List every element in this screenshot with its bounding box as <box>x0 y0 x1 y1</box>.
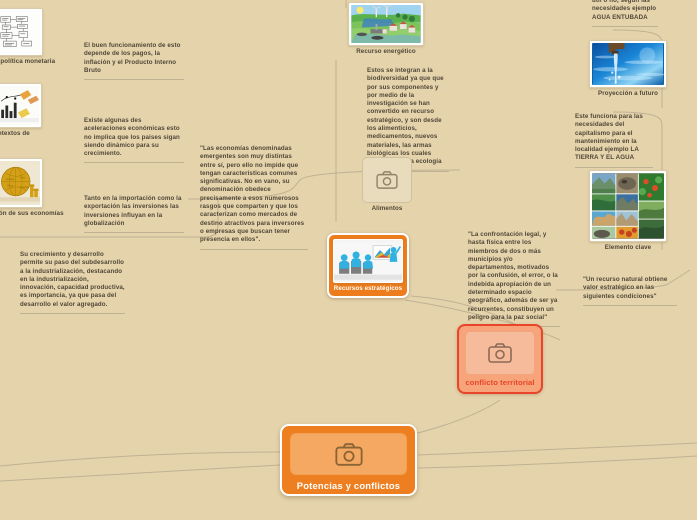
text-content: Tanto en la importación como la exportac… <box>84 195 184 228</box>
node-caption: Potencias y conflictos <box>290 480 407 491</box>
running-water-icon <box>592 43 664 85</box>
node-elemento-clave[interactable]: Elemento clave <box>589 170 667 251</box>
node-caption: a política monetaria <box>0 58 43 65</box>
text-content: "La confrontación legal, y hasta física … <box>468 231 560 322</box>
node-underline <box>84 79 184 80</box>
text-node-recurso-natural[interactable]: "Un recurso natural obtiene valor estrat… <box>583 276 677 309</box>
energy-landscape-icon <box>351 5 421 43</box>
svg-text:África: África <box>7 185 14 188</box>
text-node-capitalismo[interactable]: Este funciona para las necesidades del c… <box>575 113 653 171</box>
svg-text:Europa: Europa <box>6 178 14 181</box>
node-caption: Elemento clave <box>589 244 667 251</box>
camera-placeholder-icon <box>362 157 412 203</box>
text-content: Este funciona para las necesidades del c… <box>575 113 653 163</box>
business-sketch-icon <box>0 86 39 125</box>
camera-icon <box>376 171 398 189</box>
golden-globe-icon: EuropaAsia ÁfricaAmérica <box>0 161 40 205</box>
node-economias[interactable]: EuropaAsia ÁfricaAmérica ión de sus econ… <box>0 158 43 217</box>
collage-image <box>589 170 667 242</box>
text-content: "Un recurso natural obtiene valor estrat… <box>583 276 677 301</box>
node-caption: Proyección a futuro <box>589 90 667 97</box>
node-caption: Recursos estratégicos <box>333 285 403 292</box>
text-content: Su crecimiento y desarrollo permite su p… <box>20 251 125 309</box>
meeting-image <box>333 239 403 283</box>
node-underline <box>583 305 677 306</box>
text-node-crecimiento-desarrollo[interactable]: Su crecimiento y desarrollo permite su p… <box>20 251 125 317</box>
node-underline <box>200 249 308 250</box>
globe-image: EuropaAsia ÁfricaAmérica <box>0 158 43 208</box>
node-underline <box>84 162 184 163</box>
svg-text:América: América <box>20 186 29 189</box>
text-node-agua-entubada[interactable]: util o no, según las necesidades ejemplo… <box>592 0 658 30</box>
text-content: "Las economías denominadas emergentes so… <box>200 145 308 245</box>
node-underline <box>84 232 184 233</box>
text-node-funcionamiento[interactable]: El buen funcionamiento de esto depende d… <box>84 42 184 83</box>
node-underline <box>592 26 658 27</box>
text-content: Estos se integran a la biodiversidad ya … <box>367 67 449 167</box>
camera-placeholder-icon <box>290 433 407 475</box>
camera-icon <box>335 443 363 466</box>
text-content: util o no, según las necesidades ejemplo… <box>592 0 658 22</box>
node-recurso-energetico[interactable]: Recurso energético <box>348 2 424 55</box>
node-caption: conflicto territorial <box>465 378 535 387</box>
node-contextos-de[interactable]: ontextos de <box>0 83 42 137</box>
text-node-aceleraciones[interactable]: Existe algunas des aceleraciones económi… <box>84 117 184 166</box>
node-caption: ontextos de <box>0 130 42 137</box>
text-content: Existe algunas des aceleraciones económi… <box>84 117 184 158</box>
diagram-image <box>0 8 43 56</box>
water-image <box>589 40 667 88</box>
node-alimentos[interactable]: Alimentos <box>362 157 412 212</box>
text-node-economias-emergentes[interactable]: "Las economías denominadas emergentes so… <box>200 145 308 253</box>
flowchart-diagram-icon <box>0 11 40 53</box>
node-caption: Recurso energético <box>348 48 424 55</box>
node-caption: ión de sus economías <box>0 210 43 217</box>
text-node-importacion[interactable]: Tanto en la importación como la exportac… <box>84 195 184 236</box>
landscape-image <box>348 2 424 46</box>
node-recursos-estrategicos[interactable]: Recursos estratégicos <box>327 233 409 298</box>
node-potencias-y-conflictos[interactable]: Potencias y conflictos <box>280 424 417 496</box>
camera-placeholder-icon <box>465 331 535 375</box>
mindmap-canvas[interactable]: a política monetaria <box>0 0 697 520</box>
node-caption: Alimentos <box>362 205 412 212</box>
node-underline <box>20 313 125 314</box>
node-conflicto-territorial[interactable]: conflicto territorial <box>457 324 543 394</box>
node-underline <box>575 167 653 168</box>
text-node-confrontacion[interactable]: "La confrontación legal, y hasta física … <box>468 231 560 330</box>
svg-text:Asia: Asia <box>20 177 25 180</box>
node-politica-monetaria[interactable]: a política monetaria <box>0 8 43 65</box>
node-proyeccion-a-futuro[interactable]: Proyección a futuro <box>589 40 667 97</box>
sketch-image <box>0 83 42 128</box>
nature-collage-icon <box>592 173 664 239</box>
camera-icon <box>488 343 512 363</box>
presentation-meeting-icon <box>334 240 402 282</box>
text-content: El buen funcionamiento de esto depende d… <box>84 42 184 75</box>
